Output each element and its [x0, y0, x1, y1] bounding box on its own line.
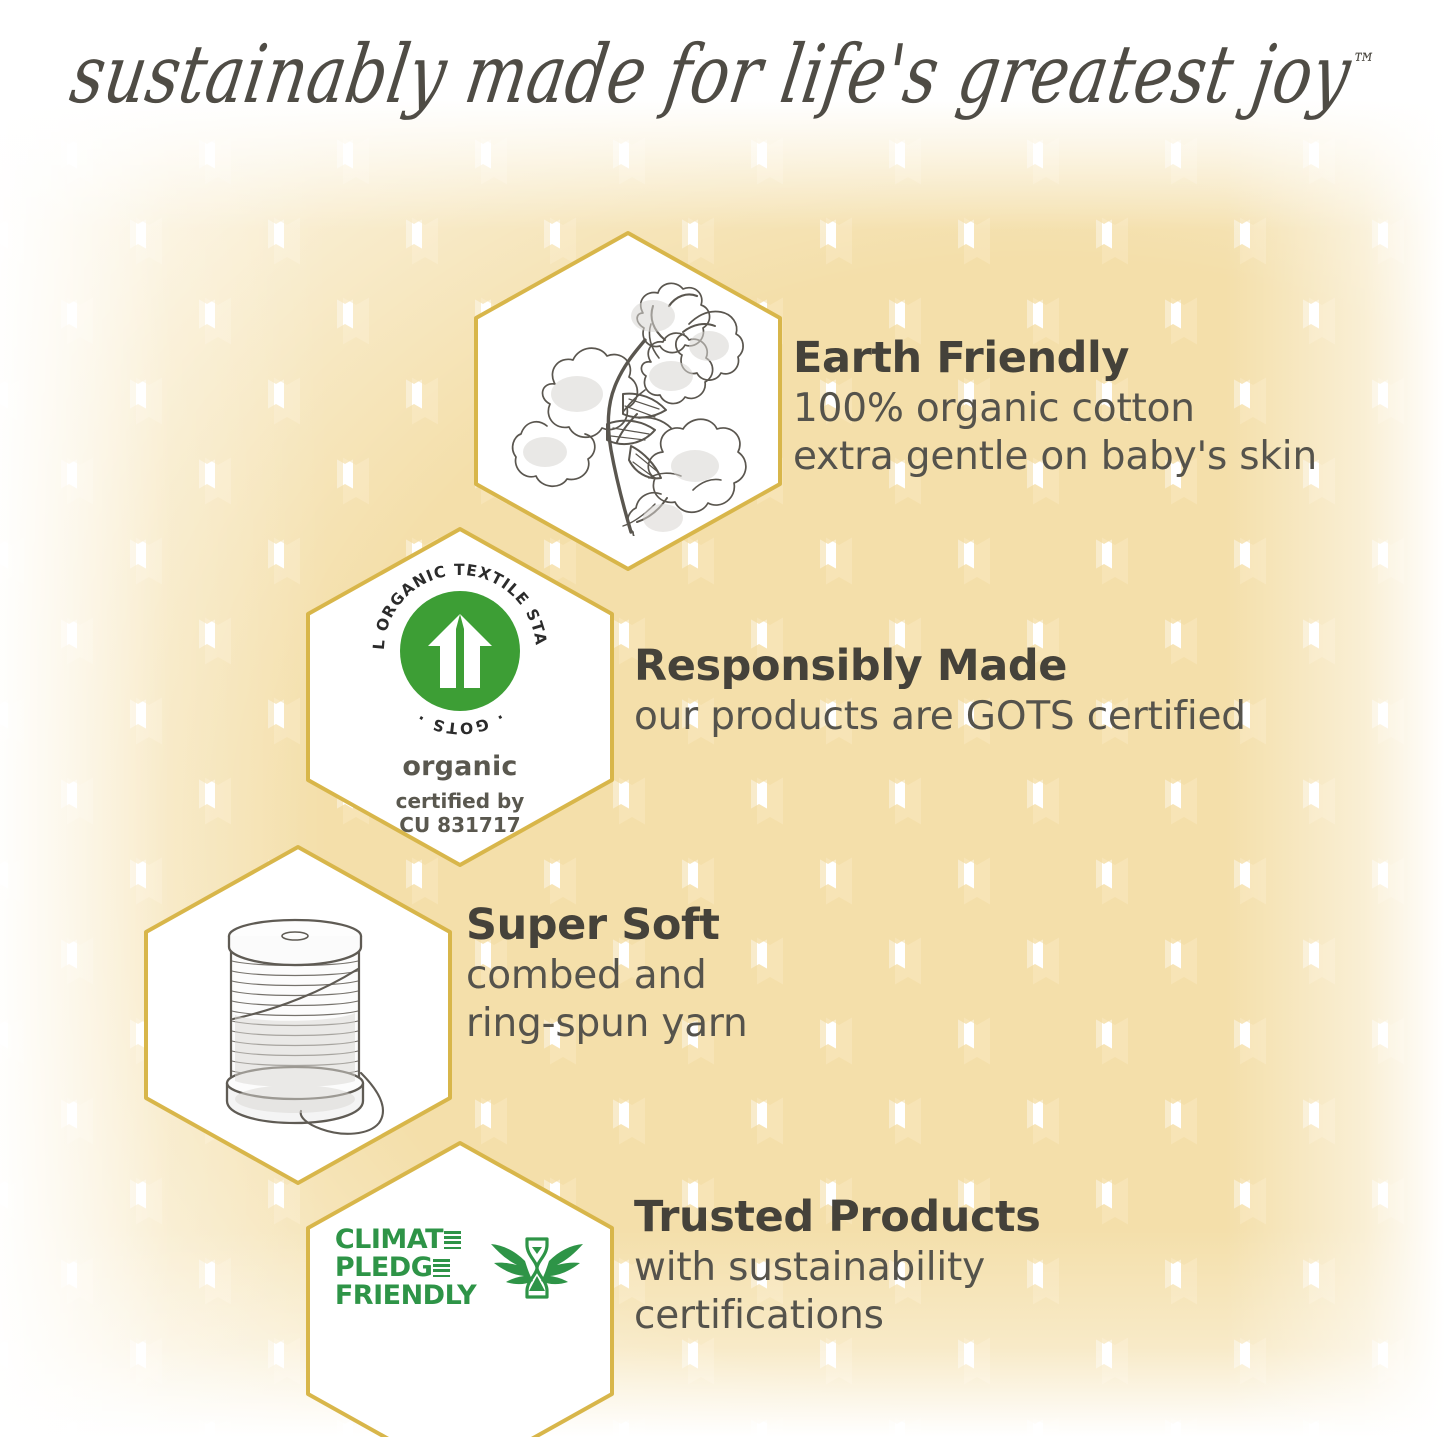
feature-line: certifications [634, 1292, 1040, 1340]
feature-line: combed and [466, 952, 748, 1000]
feature-line: extra gentle on baby's skin [793, 433, 1317, 481]
feature-title: Responsibly Made [634, 644, 1246, 689]
hex-card-responsibly-made: GLOBAL ORGANIC TEXTILE STANDARD · GOTS ·… [300, 524, 620, 870]
cpf-bars-icon [444, 1231, 461, 1249]
feature-title: Earth Friendly [793, 336, 1317, 381]
feature-line: our products are GOTS certified [634, 693, 1246, 741]
thread-spool-sketch-icon [183, 895, 413, 1135]
cpf-line-2: PLEDG [335, 1254, 433, 1282]
feature-line: with sustainability [634, 1244, 1040, 1292]
hex-card-earth-friendly [468, 228, 788, 574]
gots-certifier-block: certified by CU 831717 [396, 789, 525, 838]
feature-text-super-soft: Super Soft combed and ring-spun yarn [466, 903, 748, 1047]
sustainability-infographic: sustainably made for life's greatest joy… [0, 0, 1445, 1437]
cpf-bars-icon [433, 1259, 450, 1277]
hex-card-super-soft [138, 842, 458, 1188]
cpf-line-1: CLIMAT [335, 1226, 443, 1254]
trademark-symbol: ™ [1348, 47, 1377, 81]
cotton-boll-sketch-icon [503, 266, 753, 536]
gots-certifier-code: CU 831717 [396, 813, 525, 837]
page-headline: sustainably made for life's greatest joy… [0, 36, 1445, 113]
feature-title: Super Soft [466, 903, 748, 948]
feature-title: Trusted Products [634, 1195, 1040, 1240]
cpf-wordmark: CLIMAT PLEDG FRIENDLY [335, 1226, 476, 1310]
cpf-line-3: FRIENDLY [335, 1282, 476, 1310]
hex-card-trusted-products: CLIMAT PLEDG FRIENDLY [300, 1138, 620, 1437]
feature-text-earth-friendly: Earth Friendly 100% organic cotton extra… [793, 336, 1317, 480]
climate-pledge-friendly-icon: CLIMAT PLEDG FRIENDLY [335, 1226, 585, 1310]
feature-line: ring-spun yarn [466, 1000, 748, 1048]
gots-certified-by-label: certified by [396, 789, 525, 813]
feature-text-responsibly-made: Responsibly Made our products are GOTS c… [634, 644, 1246, 741]
svg-text:· GOTS ·: · GOTS · [413, 707, 507, 737]
headline-text: sustainably made for life's greatest joy [64, 28, 1356, 122]
feature-text-trusted-products: Trusted Products with sustainability cer… [634, 1195, 1040, 1339]
gots-organic-certification-icon: GLOBAL ORGANIC TEXTILE STANDARD · GOTS · [366, 557, 554, 745]
gots-organic-label: organic [402, 751, 517, 782]
winged-hourglass-icon [489, 1231, 585, 1305]
feature-line: 100% organic cotton [793, 385, 1317, 433]
